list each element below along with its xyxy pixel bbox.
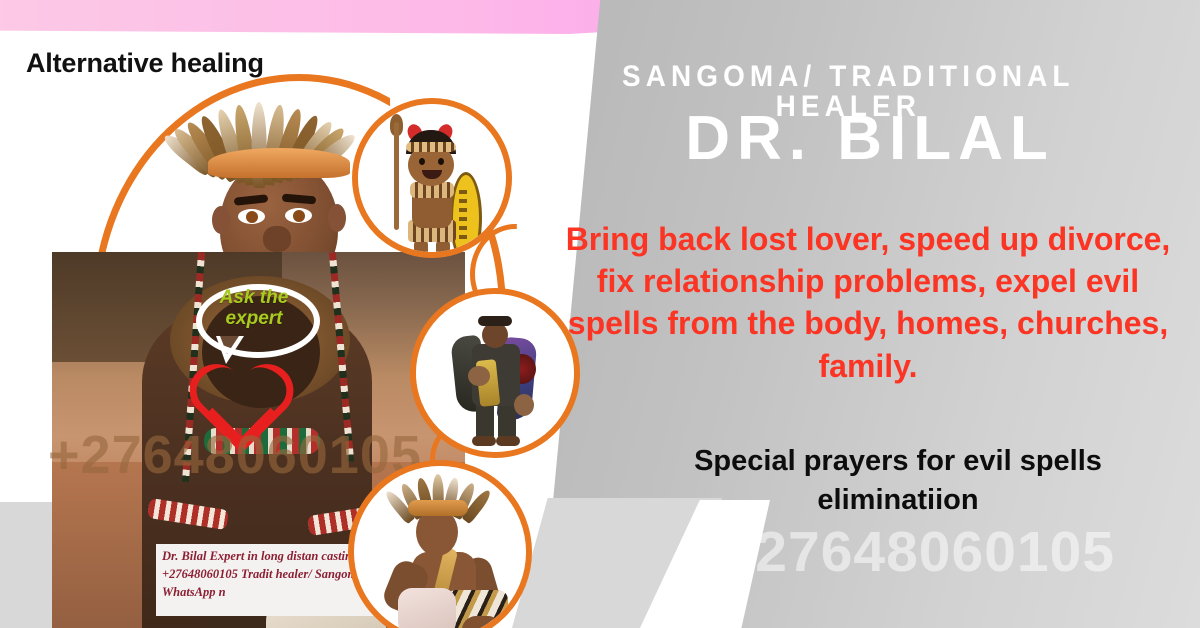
special-prayers-text: Special prayers for evil spells eliminat… <box>612 442 1184 521</box>
portrait-iris-right <box>293 210 305 222</box>
services-text: Bring back lost lover, speed up divorce,… <box>552 218 1184 387</box>
warrior-shield-pattern <box>459 190 467 240</box>
phone-watermark: +27648060105 <box>640 524 1196 581</box>
poster-canvas: Ask the expert +27648060105 Dr. Bilal Ex… <box>0 0 1200 628</box>
alternative-healing-heading: Alternative healing <box>26 50 264 77</box>
healer-name-title: DR. BILAL <box>560 108 1180 170</box>
healer-shoe-right <box>496 436 520 446</box>
circle-thumb-warrior[interactable] <box>352 98 512 258</box>
portrait-ear-right <box>328 204 346 232</box>
zulu-warrior-illustration <box>358 104 506 252</box>
portrait-crown-band <box>208 148 350 178</box>
crouching-healer-illustration <box>354 466 526 628</box>
healer-leg-right <box>498 402 516 440</box>
crouching-crown <box>408 500 468 516</box>
portrait-ear-left <box>212 206 230 234</box>
healer-bag-right <box>514 394 534 416</box>
warrior-headband <box>406 142 456 152</box>
left-artwork-zone: Ask the expert +27648060105 Dr. Bilal Ex… <box>0 36 540 628</box>
crouching-cloth-wrap <box>398 588 456 628</box>
healer-hat <box>478 316 512 326</box>
photo-phone-watermark: +27648060105 <box>48 428 422 482</box>
circle-thumb-crouching-healer[interactable] <box>348 460 532 628</box>
speech-bubble-label: Ask the expert <box>202 288 306 329</box>
crouching-knee <box>462 616 502 628</box>
healer-bag-left <box>468 366 490 386</box>
robed-healer-illustration <box>416 294 574 452</box>
warrior-eye-right <box>438 158 444 165</box>
warrior-eye-left <box>419 158 425 165</box>
portrait-nose <box>263 226 291 252</box>
healer-leg-left <box>476 402 494 440</box>
portrait-iris-left <box>246 211 258 223</box>
healer-shoe-left <box>472 436 496 446</box>
warrior-spear <box>394 122 399 230</box>
